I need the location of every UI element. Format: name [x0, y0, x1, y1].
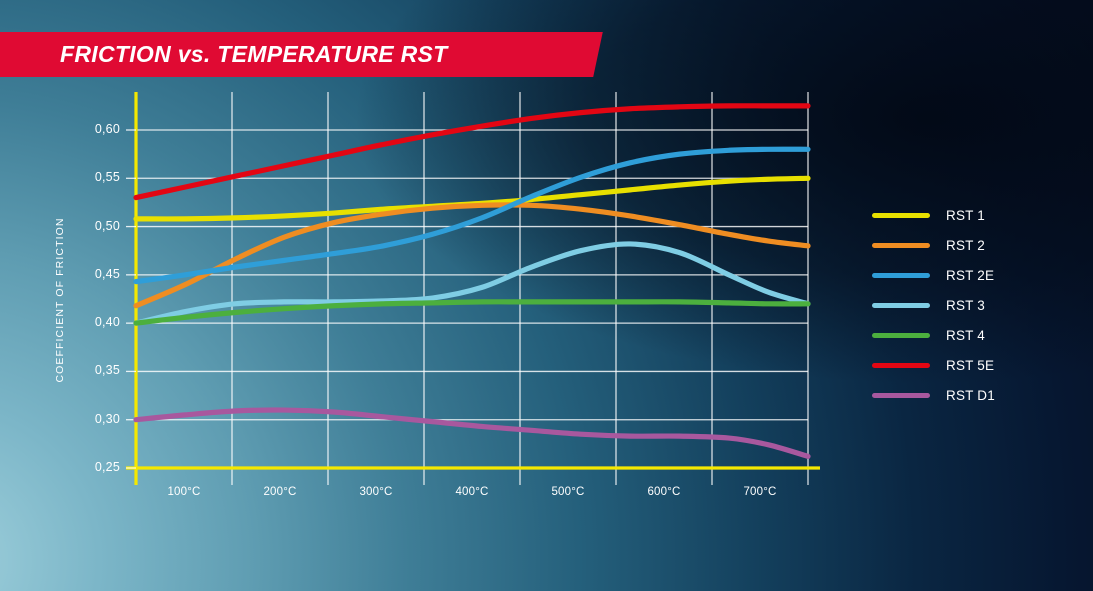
x-axis-tick-label: 600°C — [629, 486, 699, 498]
legend-swatch-icon — [872, 273, 930, 278]
legend-item-rst-d1[interactable]: RST D1 — [872, 380, 995, 410]
legend-label: RST D1 — [946, 388, 995, 403]
legend-swatch-icon — [872, 363, 930, 368]
y-axis-title: COEFFICIENT OF FRICTION — [54, 217, 66, 382]
series-line-rst-d1 — [136, 410, 808, 456]
x-axis-tick-label: 700°C — [725, 486, 795, 498]
y-axis-tick-label: 0,50 — [72, 219, 120, 233]
legend-label: RST 4 — [946, 328, 985, 343]
legend-swatch-icon — [872, 213, 930, 218]
x-axis-tick-label: 400°C — [437, 486, 507, 498]
y-axis-tick-label: 0,35 — [72, 363, 120, 377]
x-axis-tick-label: 200°C — [245, 486, 315, 498]
legend-label: RST 2E — [946, 268, 994, 283]
x-axis-tick-label: 300°C — [341, 486, 411, 498]
legend-swatch-icon — [872, 393, 930, 398]
legend-item-rst-2[interactable]: RST 2 — [872, 230, 995, 260]
y-axis-tick-label: 0,55 — [72, 170, 120, 184]
y-axis-tick-label: 0,25 — [72, 460, 120, 474]
legend-swatch-icon — [872, 303, 930, 308]
legend-item-rst-1[interactable]: RST 1 — [872, 200, 995, 230]
series-line-rst-1 — [136, 178, 808, 219]
y-axis-tick-label: 0,30 — [72, 412, 120, 426]
legend-item-rst-4[interactable]: RST 4 — [872, 320, 995, 350]
y-axis-tick-label: 0,45 — [72, 267, 120, 281]
y-axis-tick-label: 0,40 — [72, 315, 120, 329]
chart-legend: RST 1RST 2RST 2ERST 3RST 4RST 5ERST D1 — [872, 200, 995, 410]
y-axis-tick-label: 0,60 — [72, 122, 120, 136]
legend-item-rst-5e[interactable]: RST 5E — [872, 350, 995, 380]
legend-label: RST 2 — [946, 238, 985, 253]
legend-swatch-icon — [872, 243, 930, 248]
legend-label: RST 1 — [946, 208, 985, 223]
legend-label: RST 5E — [946, 358, 994, 373]
legend-swatch-icon — [872, 333, 930, 338]
legend-item-rst-3[interactable]: RST 3 — [872, 290, 995, 320]
x-axis-tick-label: 100°C — [149, 486, 219, 498]
x-axis-tick-label: 500°C — [533, 486, 603, 498]
legend-item-rst-2e[interactable]: RST 2E — [872, 260, 995, 290]
legend-label: RST 3 — [946, 298, 985, 313]
